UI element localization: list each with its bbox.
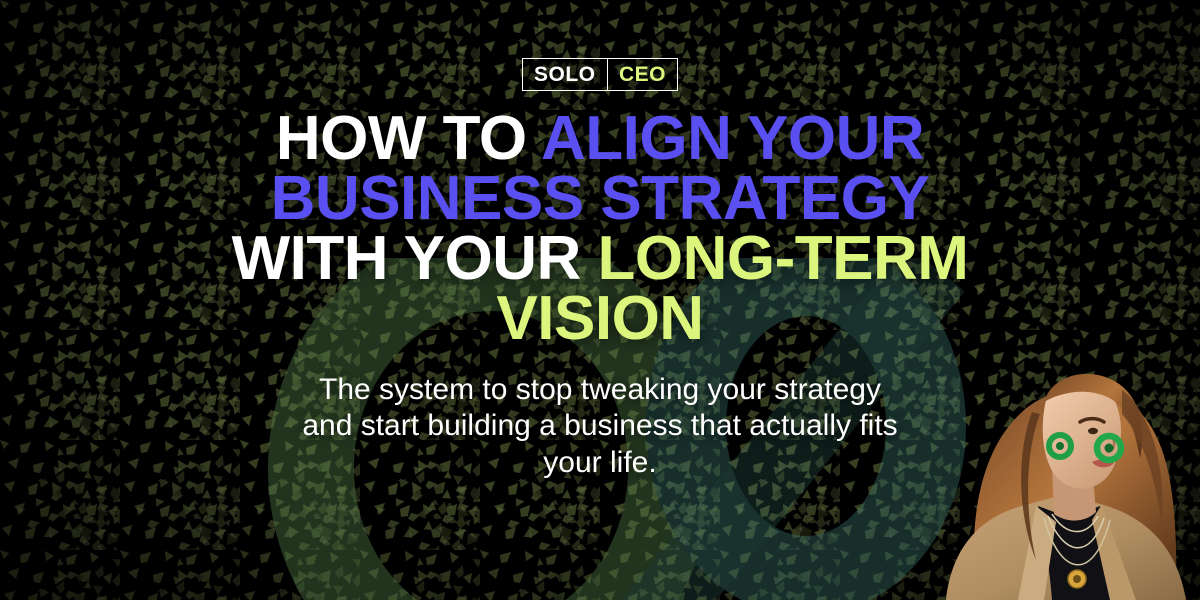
logo-solo-text: SOLO [523, 59, 607, 90]
headline-line-1: HOW TO ALIGN YOUR [110, 109, 1090, 169]
headline-line-1-purple: ALIGN YOUR [541, 104, 924, 173]
headline-line-3: WITH YOUR LONG-TERM [110, 229, 1090, 289]
logo-ceo-text: CEO [608, 59, 677, 90]
subtitle-line-2: and start building a business that actua… [205, 408, 995, 445]
page-title: HOW TO ALIGN YOUR BUSINESS STRATEGY WITH… [110, 109, 1090, 350]
banner-content: SOLO CEO HOW TO ALIGN YOUR BUSINESS STRA… [0, 0, 1200, 600]
subtitle: The system to stop tweaking your strateg… [205, 372, 995, 482]
subtitle-line-3: your life. [205, 445, 995, 482]
solo-ceo-logo: SOLO CEO [522, 58, 678, 91]
headline-line-2-purple: BUSINESS STRATEGY [271, 164, 930, 233]
headline-line-1-white: HOW TO [276, 104, 541, 173]
headline-line-3-lime: LONG-TERM [597, 224, 968, 293]
headline-line-2: BUSINESS STRATEGY [110, 169, 1090, 229]
headline-line-4: VISION [110, 289, 1090, 349]
headline-line-4-lime: VISION [496, 284, 703, 353]
promo-banner: SOLO CEO HOW TO ALIGN YOUR BUSINESS STRA… [0, 0, 1200, 600]
headline-line-3-white: WITH YOUR [232, 224, 598, 293]
subtitle-line-1: The system to stop tweaking your strateg… [205, 372, 995, 409]
